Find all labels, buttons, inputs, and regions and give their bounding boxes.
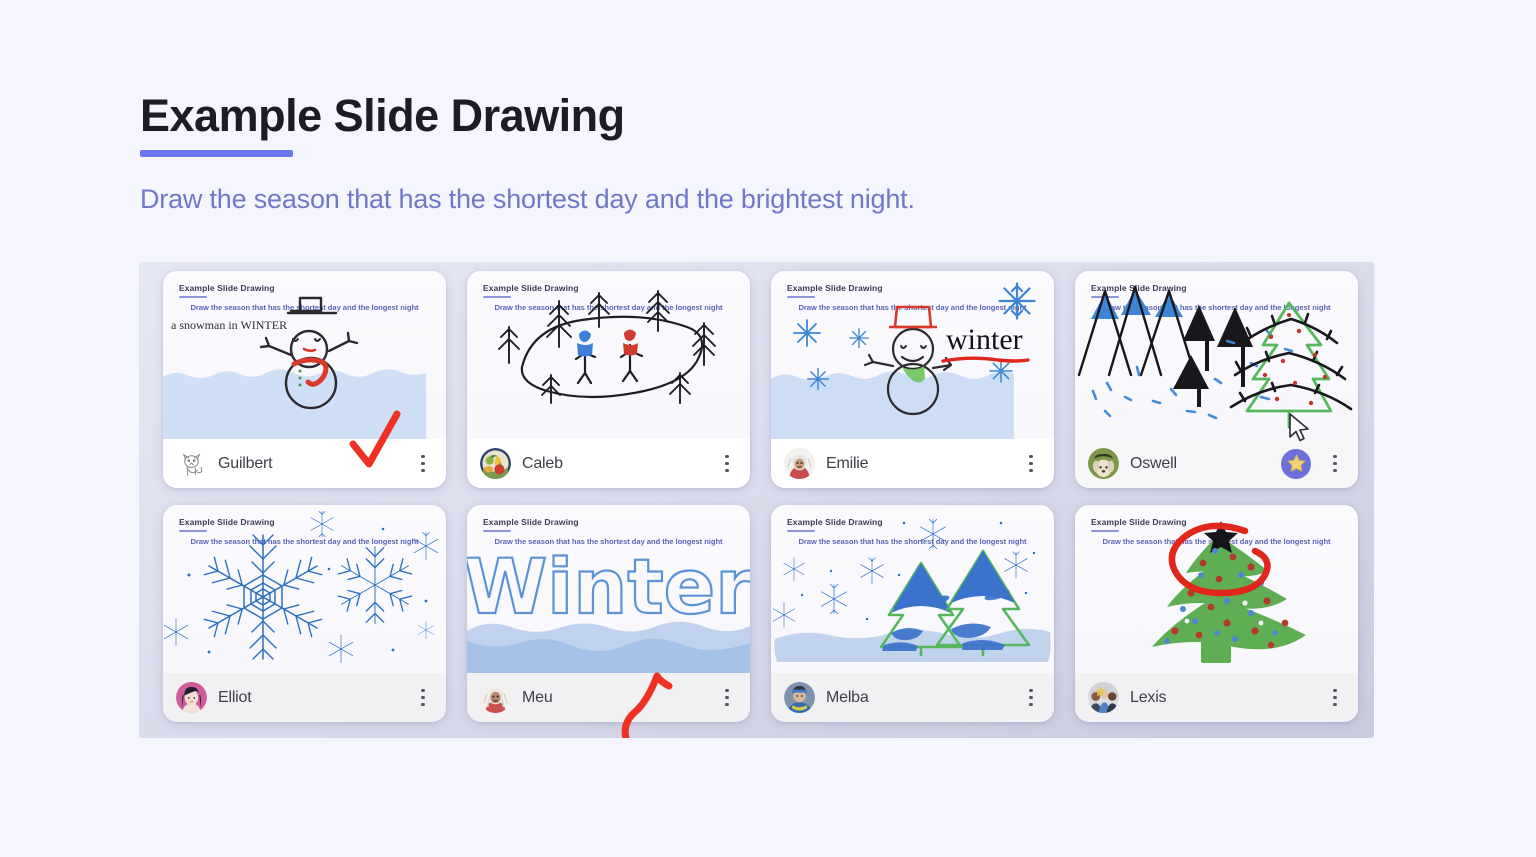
title-accent-underline [140,150,293,157]
student-name: Lexis [1130,689,1315,707]
card-slide-preview: Example Slide Drawing Draw the season th… [467,271,750,439]
drawing-frozen-pond-skaters [467,271,750,439]
student-name: Melba [826,689,1011,707]
grid-cell: Example Slide Drawing Draw the season th… [1051,496,1355,730]
drawings-grid-container: Example Slide Drawing Draw the season th… [139,262,1374,738]
drawing-card-melba[interactable]: Example Slide Drawing Draw the season th… [771,505,1054,722]
avatar [784,448,815,479]
drawing-decorated-christmas-tree [1075,505,1358,673]
more-vertical-icon[interactable] [1022,684,1040,712]
student-name: Oswell [1130,455,1270,473]
grid-cell: Example Slide Drawing Draw the season th… [139,496,443,730]
avatar [176,682,207,713]
svg-text:a snowman in WINTER: a snowman in WINTER [171,318,287,332]
drawing-snowman-winter-word: winter [771,271,1054,439]
grid-cell: Example Slide Drawing Draw the season th… [747,262,1051,496]
card-footer: Lexis [1075,673,1358,722]
more-vertical-icon[interactable] [414,450,432,478]
grid-cell: Example Slide Drawing Draw the season th… [1051,262,1355,496]
drawing-snowflakes [163,505,446,673]
avatar [176,448,207,479]
page-title: Example Slide Drawing [140,90,625,142]
card-footer: Oswell [1075,439,1358,488]
student-name: Emilie [826,455,1011,473]
card-slide-preview: Example Slide Drawing Draw the season th… [467,505,750,673]
drawing-card-lexis[interactable]: Example Slide Drawing Draw the season th… [1075,505,1358,722]
card-slide-preview: Example Slide Drawing Draw the season th… [1075,271,1358,439]
grid-cell: Example Slide Drawing Draw the season th… [139,262,443,496]
drawing-snowman-in-winter-label: a snowman in WINTER [163,271,446,439]
drawing-mountains-and-tree [1075,271,1358,439]
card-footer: Meu [467,673,750,722]
drawing-card-meu[interactable]: Example Slide Drawing Draw the season th… [467,505,750,722]
avatar [480,448,511,479]
card-slide-preview: Example Slide Drawing Draw the season th… [163,505,446,673]
page-subtitle: Draw the season that has the shortest da… [140,184,915,215]
card-footer: Guilbert [163,439,446,488]
star-badge[interactable] [1281,449,1311,479]
grid-cell: Example Slide Drawing Draw the season th… [443,496,747,730]
avatar [784,682,815,713]
svg-text:winter: winter [946,323,1023,356]
avatar [480,682,511,713]
more-vertical-icon[interactable] [718,684,736,712]
drawing-winter-bubble-letters: Winter [467,505,750,673]
card-footer: Elliot [163,673,446,722]
card-footer: Caleb [467,439,750,488]
card-footer: Melba [771,673,1054,722]
star-icon [1286,453,1307,474]
drawing-two-snowy-trees [771,505,1054,673]
more-vertical-icon[interactable] [414,684,432,712]
student-name: Elliot [218,689,403,707]
svg-text:Winter: Winter [467,542,750,631]
more-vertical-icon[interactable] [1326,684,1344,712]
drawing-card-caleb[interactable]: Example Slide Drawing Draw the season th… [467,271,750,488]
card-slide-preview: Example Slide Drawing Draw the season th… [163,271,446,439]
drawing-card-elliot[interactable]: Example Slide Drawing Draw the season th… [163,505,446,722]
avatar [1088,448,1119,479]
drawing-card-oswell[interactable]: Example Slide Drawing Draw the season th… [1075,271,1358,488]
more-vertical-icon[interactable] [718,450,736,478]
card-slide-preview: Example Slide Drawing Draw the season th… [771,505,1054,673]
grid-cell: Example Slide Drawing Draw the season th… [747,496,1051,730]
avatar [1088,682,1119,713]
drawing-card-guilbert[interactable]: Example Slide Drawing Draw the season th… [163,271,446,488]
drawings-grid: Example Slide Drawing Draw the season th… [139,262,1374,738]
grid-cell: Example Slide Drawing Draw the season th… [443,262,747,496]
student-name: Guilbert [218,455,403,473]
slide-drawing-page: Example Slide Drawing Draw the season th… [0,0,1536,857]
card-footer: Emilie [771,439,1054,488]
student-name: Caleb [522,455,707,473]
more-vertical-icon[interactable] [1022,450,1040,478]
drawing-card-emilie[interactable]: Example Slide Drawing Draw the season th… [771,271,1054,488]
card-slide-preview: Example Slide Drawing Draw the season th… [771,271,1054,439]
more-vertical-icon[interactable] [1326,450,1344,478]
card-slide-preview: Example Slide Drawing Draw the season th… [1075,505,1358,673]
student-name: Meu [522,689,707,707]
